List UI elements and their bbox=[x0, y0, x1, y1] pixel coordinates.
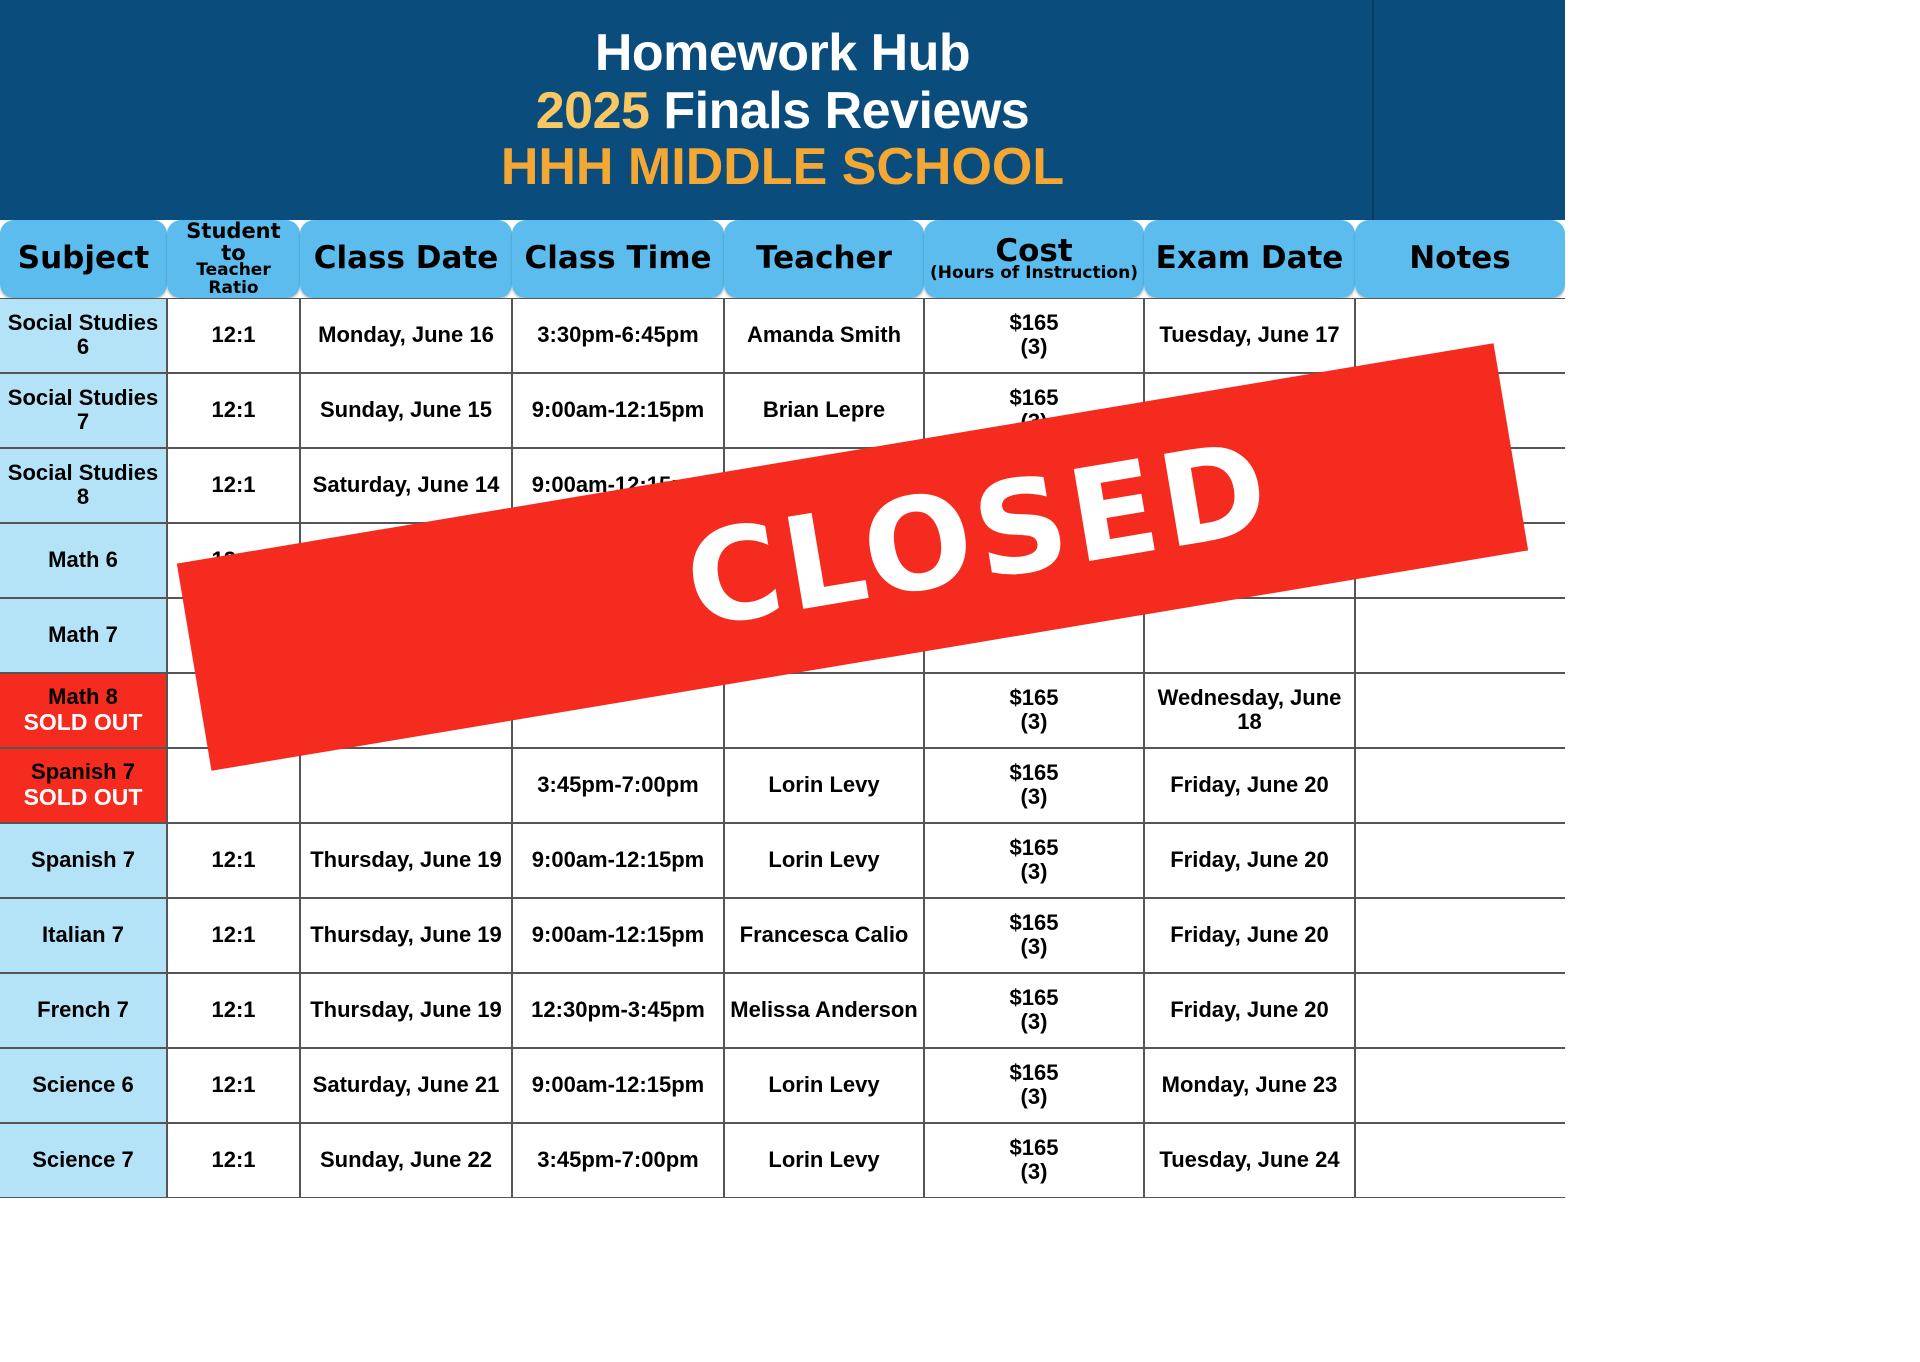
cell-ratio: 12:1 bbox=[167, 973, 300, 1048]
school-name: HHH MIDDLE SCHOOL bbox=[501, 141, 1064, 193]
sold-out-badge: SOLD OUT bbox=[4, 710, 162, 735]
cell-class-date: Saturday, June 14 bbox=[300, 448, 512, 523]
cell-cost: $165(3) bbox=[924, 1123, 1144, 1198]
cost-hours: (3) bbox=[929, 1010, 1139, 1035]
cell-subject: Social Studies 6 bbox=[0, 298, 167, 373]
cell-ratio: 12:1 bbox=[167, 1123, 300, 1198]
cell-subject: Science 6 bbox=[0, 1048, 167, 1123]
subject-label: Social Studies 8 bbox=[8, 460, 158, 510]
cell-teacher: Sean Ryan bbox=[724, 523, 924, 598]
subject-label: Spanish 7 bbox=[31, 759, 135, 784]
cell-class-time: 12:30pm-3:45pm bbox=[512, 973, 724, 1048]
cost-amount: $165 bbox=[1010, 535, 1059, 560]
cell-class-time: 9:00am-12:15pm bbox=[512, 448, 724, 523]
cell-cost: $165(3) bbox=[924, 673, 1144, 748]
subject-label: Spanish 7 bbox=[31, 847, 135, 872]
cost-hours: (3) bbox=[929, 1085, 1139, 1110]
subject-label: Italian 7 bbox=[42, 922, 124, 947]
cell-cost: $165(3) bbox=[924, 448, 1144, 523]
cell-teacher: Melissa Anderson bbox=[724, 973, 924, 1048]
cell-cost: $165(3) bbox=[924, 898, 1144, 973]
cost-hours: (3) bbox=[929, 785, 1139, 810]
table-row: Social Studies 612:1Monday, June 163:30p… bbox=[0, 298, 1565, 373]
cell-subject: Science 7 bbox=[0, 1123, 167, 1198]
cell-class-date: Saturday, June 14 bbox=[300, 523, 512, 598]
cell-class-date: Thursday, June 19 bbox=[300, 823, 512, 898]
cell-exam-date: Wednesday, June 18 bbox=[1144, 673, 1355, 748]
cell-ratio bbox=[167, 748, 300, 823]
cell-teacher: Amanda Smith bbox=[724, 298, 924, 373]
cell-cost: $165(3) bbox=[924, 973, 1144, 1048]
title-year: 2025 bbox=[536, 82, 650, 140]
cell-notes bbox=[1355, 748, 1565, 823]
cell-notes bbox=[1355, 673, 1565, 748]
header-label-ratio-line2: Teacher Ratio bbox=[171, 262, 296, 298]
cell-exam-date bbox=[1144, 598, 1355, 673]
subject-label: Math 6 bbox=[48, 547, 118, 572]
cell-teacher: Lorin Levy bbox=[724, 823, 924, 898]
table-header: Subject Student toTeacher Ratio Class Da… bbox=[0, 220, 1565, 298]
page-title: Homework Hub bbox=[595, 27, 970, 79]
cell-notes bbox=[1355, 1048, 1565, 1123]
cell-ratio: 12:1 bbox=[167, 898, 300, 973]
table-row: Social Studies 712:1Sunday, June 159:00a… bbox=[0, 373, 1565, 448]
cell-class-time: 9:00am-12:15pm bbox=[512, 523, 724, 598]
table-row: Spanish 7SOLD OUT3:45pm-7:00pmLorin Levy… bbox=[0, 748, 1565, 823]
cell-teacher: Brian Lepre bbox=[724, 373, 924, 448]
cell-class-date: Thursday, June 19 bbox=[300, 898, 512, 973]
cell-teacher: Brian Lepre bbox=[724, 448, 924, 523]
subject-label: Math 7 bbox=[48, 622, 118, 647]
subject-label: French 7 bbox=[37, 997, 129, 1022]
header-row: Subject Student toTeacher Ratio Class Da… bbox=[0, 220, 1565, 298]
cost-hours: (3) bbox=[929, 1160, 1139, 1185]
table-row: Italian 712:1Thursday, June 199:00am-12:… bbox=[0, 898, 1565, 973]
cell-subject: Spanish 7SOLD OUT bbox=[0, 748, 167, 823]
cell-class-time: 3:45pm-7:00pm bbox=[512, 1123, 724, 1198]
table-row: Math 612:1Saturday, June 149:00am-12:15p… bbox=[0, 523, 1565, 598]
column-header-subject[interactable]: Subject bbox=[0, 220, 167, 298]
cell-exam-date bbox=[1144, 523, 1355, 598]
cell-subject: Math 8SOLD OUT bbox=[0, 673, 167, 748]
cost-amount: $165 bbox=[1010, 760, 1059, 785]
cell-cost: $165(3) bbox=[924, 373, 1144, 448]
cost-amount: $165 bbox=[1010, 835, 1059, 860]
header-label-exam-date: Exam Date bbox=[1156, 240, 1344, 276]
subject-label: Social Studies 7 bbox=[8, 385, 158, 435]
subject-label: Social Studies 6 bbox=[8, 310, 158, 360]
cell-cost bbox=[924, 598, 1144, 673]
cell-notes bbox=[1355, 973, 1565, 1048]
cell-class-time bbox=[512, 673, 724, 748]
column-header-exam-date[interactable]: Exam Date bbox=[1144, 220, 1355, 298]
cell-notes bbox=[1355, 823, 1565, 898]
table-row: Science 612:1Saturday, June 219:00am-12:… bbox=[0, 1048, 1565, 1123]
cell-ratio bbox=[167, 673, 300, 748]
cell-exam-date: Friday, June 20 bbox=[1144, 898, 1355, 973]
title-subtitle-rest: Finals Reviews bbox=[649, 82, 1029, 140]
cell-subject: Social Studies 7 bbox=[0, 373, 167, 448]
cell-class-date: Thursday, June 19 bbox=[300, 973, 512, 1048]
cost-hours: (3) bbox=[929, 560, 1139, 585]
cell-notes bbox=[1355, 523, 1565, 598]
table-row: Math 712:1Saturday, June 14 bbox=[0, 598, 1565, 673]
cell-ratio: 12:1 bbox=[167, 448, 300, 523]
cell-cost: $165(3) bbox=[924, 523, 1144, 598]
cell-subject: Italian 7 bbox=[0, 898, 167, 973]
cost-hours: (3) bbox=[929, 935, 1139, 960]
header-label-cost-sub: (Hours of Instruction) bbox=[928, 265, 1140, 282]
cell-class-date bbox=[300, 748, 512, 823]
cell-teacher: Lorin Levy bbox=[724, 1048, 924, 1123]
cell-teacher: Francesca Calio bbox=[724, 898, 924, 973]
cell-class-time: 9:00am-12:15pm bbox=[512, 823, 724, 898]
cost-amount: $165 bbox=[1010, 910, 1059, 935]
cost-hours: (3) bbox=[929, 485, 1139, 510]
cell-subject: Math 6 bbox=[0, 523, 167, 598]
table-row: Spanish 712:1Thursday, June 199:00am-12:… bbox=[0, 823, 1565, 898]
cell-exam-date: Tuesday, June 17 bbox=[1144, 298, 1355, 373]
cell-class-date: Monday, June 16 bbox=[300, 298, 512, 373]
header-label-class-date: Class Date bbox=[314, 240, 499, 276]
cell-notes bbox=[1355, 1123, 1565, 1198]
cost-amount: $165 bbox=[1010, 685, 1059, 710]
header-label-notes: Notes bbox=[1409, 240, 1511, 276]
cost-amount: $165 bbox=[1010, 985, 1059, 1010]
cell-exam-date: Tuesday, June 17 bbox=[1144, 448, 1355, 523]
column-header-ratio[interactable]: Student toTeacher Ratio bbox=[167, 220, 300, 298]
cell-ratio: 12:1 bbox=[167, 823, 300, 898]
cost-hours: (3) bbox=[929, 860, 1139, 885]
cost-amount: $165 bbox=[1010, 385, 1059, 410]
cell-exam-date: Friday, June 20 bbox=[1144, 973, 1355, 1048]
cell-class-date bbox=[300, 673, 512, 748]
column-header-teacher[interactable]: Teacher bbox=[724, 220, 924, 298]
cell-class-time: 9:00am-12:15pm bbox=[512, 898, 724, 973]
cell-cost: $165(3) bbox=[924, 298, 1144, 373]
cost-amount: $165 bbox=[1010, 1060, 1059, 1085]
page-subtitle: 2025 Finals Reviews bbox=[536, 85, 1029, 137]
cell-class-date: Sunday, June 22 bbox=[300, 1123, 512, 1198]
cell-class-time: 9:00am-12:15pm bbox=[512, 373, 724, 448]
cell-class-time: 3:30pm-6:45pm bbox=[512, 298, 724, 373]
cell-class-time bbox=[512, 598, 724, 673]
cell-exam-date: Tuesday, June 24 bbox=[1144, 1123, 1355, 1198]
cell-notes bbox=[1355, 898, 1565, 973]
table-row: Math 8SOLD OUT$165(3)Wednesday, June 18 bbox=[0, 673, 1565, 748]
masthead-divider bbox=[1372, 0, 1374, 220]
cost-hours: (3) bbox=[929, 410, 1139, 435]
cell-teacher: Lorin Levy bbox=[724, 748, 924, 823]
cell-class-date: Sunday, June 15 bbox=[300, 373, 512, 448]
cell-exam-date: Tuesday, June 17 bbox=[1144, 373, 1355, 448]
cell-exam-date: Friday, June 20 bbox=[1144, 823, 1355, 898]
cost-amount: $165 bbox=[1010, 310, 1059, 335]
cell-ratio: 12:1 bbox=[167, 298, 300, 373]
schedule-table: Subject Student toTeacher Ratio Class Da… bbox=[0, 220, 1565, 1198]
sold-out-badge: SOLD OUT bbox=[4, 785, 162, 810]
subject-label: Science 6 bbox=[32, 1072, 134, 1097]
cell-subject: Spanish 7 bbox=[0, 823, 167, 898]
cell-cost: $165(3) bbox=[924, 1048, 1144, 1123]
cell-notes bbox=[1355, 373, 1565, 448]
table-row: Science 712:1Sunday, June 223:45pm-7:00p… bbox=[0, 1123, 1565, 1198]
table-row: Social Studies 812:1Saturday, June 149:0… bbox=[0, 448, 1565, 523]
cell-ratio: 12:1 bbox=[167, 1048, 300, 1123]
cell-subject: Social Studies 8 bbox=[0, 448, 167, 523]
column-header-cost[interactable]: Cost(Hours of Instruction) bbox=[924, 220, 1144, 298]
header-label-subject: Subject bbox=[18, 240, 149, 276]
column-header-class-date[interactable]: Class Date bbox=[300, 220, 512, 298]
cell-teacher: Lorin Levy bbox=[724, 1123, 924, 1198]
header-label-teacher: Teacher bbox=[756, 240, 892, 276]
cell-ratio: 12:1 bbox=[167, 373, 300, 448]
subject-label: Science 7 bbox=[32, 1147, 134, 1172]
cost-hours: (3) bbox=[929, 335, 1139, 360]
cell-ratio: 12:1 bbox=[167, 523, 300, 598]
cost-hours: (3) bbox=[929, 710, 1139, 735]
cell-notes bbox=[1355, 598, 1565, 673]
cell-cost: $165(3) bbox=[924, 748, 1144, 823]
cell-notes bbox=[1355, 298, 1565, 373]
header-label-ratio-line1: Student to bbox=[186, 219, 280, 265]
cell-ratio: 12:1 bbox=[167, 598, 300, 673]
flyer-page: Homework Hub 2025 Finals Reviews HHH MID… bbox=[0, 0, 1565, 1362]
column-header-class-time[interactable]: Class Time bbox=[512, 220, 724, 298]
column-header-notes[interactable]: Notes bbox=[1355, 220, 1565, 298]
cell-teacher bbox=[724, 673, 924, 748]
cell-subject: Math 7 bbox=[0, 598, 167, 673]
cost-amount: $165 bbox=[1010, 1135, 1059, 1160]
cell-exam-date: Monday, June 23 bbox=[1144, 1048, 1355, 1123]
cell-class-date: Saturday, June 21 bbox=[300, 1048, 512, 1123]
cell-cost: $165(3) bbox=[924, 823, 1144, 898]
table-row: French 712:1Thursday, June 1912:30pm-3:4… bbox=[0, 973, 1565, 1048]
table-body: Social Studies 612:1Monday, June 163:30p… bbox=[0, 298, 1565, 1198]
cell-notes bbox=[1355, 448, 1565, 523]
cell-class-time: 3:45pm-7:00pm bbox=[512, 748, 724, 823]
header-label-class-time: Class Time bbox=[524, 240, 711, 276]
masthead-banner: Homework Hub 2025 Finals Reviews HHH MID… bbox=[0, 0, 1565, 220]
cell-teacher bbox=[724, 598, 924, 673]
cost-amount: $165 bbox=[1010, 460, 1059, 485]
cell-class-date: Saturday, June 14 bbox=[300, 598, 512, 673]
cell-class-time: 9:00am-12:15pm bbox=[512, 1048, 724, 1123]
subject-label: Math 8 bbox=[48, 684, 118, 709]
cell-exam-date: Friday, June 20 bbox=[1144, 748, 1355, 823]
cell-subject: French 7 bbox=[0, 973, 167, 1048]
